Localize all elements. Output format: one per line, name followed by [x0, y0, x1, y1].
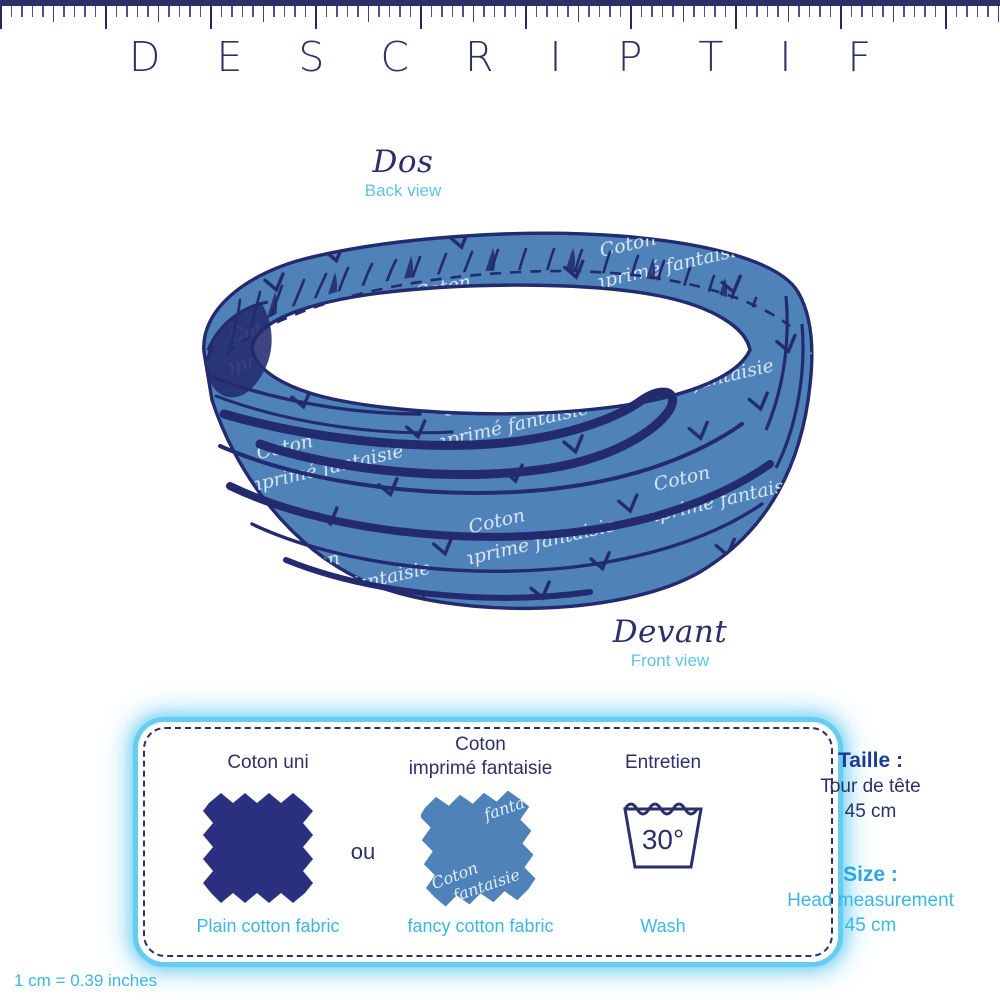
- ruler-tick: [893, 6, 895, 22]
- ruler-tick: [935, 6, 937, 17]
- ruler-tick: [620, 6, 622, 17]
- panel-column-care: Entretien 30° Wash: [588, 729, 738, 955]
- info-panel: Coton uni Plain cotton fabric ou Coton i…: [138, 722, 838, 962]
- ruler-tick: [389, 6, 391, 17]
- plain-fabric-title-fr: Coton uni: [163, 751, 373, 775]
- ruler-tick: [588, 6, 590, 17]
- label-back-view: Dos Back view: [303, 145, 503, 203]
- ruler-tick: [546, 6, 548, 17]
- ruler-tick: [242, 6, 244, 17]
- ruler-tick: [95, 6, 97, 17]
- ruler-tick: [819, 6, 821, 17]
- size-title-fr: Taille :: [738, 747, 1000, 774]
- ruler-tick: [63, 6, 65, 17]
- ruler-tick: [998, 6, 1000, 22]
- wash-temperature: 30°: [642, 824, 684, 855]
- panel-column-size: Taille : Tour de tête 45 cm Size : Head …: [738, 729, 1000, 955]
- ruler-tick: [987, 6, 989, 17]
- ruler-tick: [410, 6, 412, 17]
- ruler-tick: [651, 6, 653, 17]
- ruler-tick: [326, 6, 328, 17]
- ruler-tick: [777, 6, 779, 17]
- ruler-tick: [662, 6, 664, 17]
- ruler-tick: [861, 6, 863, 17]
- ruler-tick: [284, 6, 286, 17]
- ruler-tick: [483, 6, 485, 17]
- ruler-tick: [536, 6, 538, 17]
- ruler-tick: [735, 6, 737, 29]
- ruler-tick: [525, 6, 527, 29]
- care-title-fr: Entretien: [588, 751, 738, 775]
- ruler-tick: [746, 6, 748, 17]
- label-back-view-fr: Dos: [303, 145, 503, 179]
- ruler-tick: [914, 6, 916, 17]
- size-value-en: 45 cm: [738, 913, 1000, 938]
- printed-fabric-title-en: fancy cotton fabric: [373, 915, 588, 937]
- ruler-tick: [315, 6, 317, 29]
- size-block-fr: Taille : Tour de tête 45 cm: [738, 747, 1000, 824]
- care-title-en: Wash: [588, 915, 738, 937]
- ruler-tick: [977, 6, 979, 17]
- ruler-tick: [630, 6, 632, 29]
- printed-fabric-title-fr-line1: Coton: [373, 733, 588, 757]
- ruler-tick: [189, 6, 191, 17]
- ruler-tick: [231, 6, 233, 17]
- ruler-tick: [84, 6, 86, 17]
- ruler-tick: [263, 6, 265, 22]
- ruler-tick: [725, 6, 727, 17]
- ruler-tick: [966, 6, 968, 17]
- ruler-tick: [0, 6, 2, 29]
- ruler-tick: [903, 6, 905, 17]
- ruler-tick: [714, 6, 716, 17]
- ruler-tick: [809, 6, 811, 17]
- ruler-tick: [452, 6, 454, 17]
- ruler-tick: [420, 6, 422, 29]
- page-title: DESCRIPTIF: [0, 30, 1000, 84]
- fabric-swatch-printed-icon: fanta Coton fantaisie: [421, 791, 545, 913]
- ruler-tick: [336, 6, 338, 17]
- ruler-tick: [578, 6, 580, 22]
- ruler-tick: [924, 6, 926, 17]
- ruler-tick: [42, 6, 44, 17]
- ruler-tick: [431, 6, 433, 17]
- printed-fabric-title-fr-line2: imprimé fantaisie: [373, 757, 588, 781]
- ruler-tick: [473, 6, 475, 22]
- ruler-tick: [851, 6, 853, 17]
- ruler-tick: [872, 6, 874, 17]
- label-front-view-en: Front view: [545, 649, 795, 673]
- ruler-tick: [305, 6, 307, 17]
- fabric-swatch-plain-icon: [201, 791, 321, 909]
- ruler-tick: [767, 6, 769, 17]
- ruler-tick: [956, 6, 958, 17]
- headband-illustration: Coton imprimé fantaisie: [190, 200, 820, 620]
- ruler-tick: [515, 6, 517, 17]
- ruler-tick: [273, 6, 275, 17]
- ruler-tick: [399, 6, 401, 17]
- info-panel-border: Coton uni Plain cotton fabric ou Coton i…: [143, 727, 833, 957]
- ruler-tick: [567, 6, 569, 17]
- ruler-tick: [147, 6, 149, 17]
- ruler-tick: [74, 6, 76, 17]
- page-root: DESCRIPTIF Dos Back view Coton imprimé f…: [0, 0, 1000, 1000]
- ruler-tick: [347, 6, 349, 17]
- ruler-tick: [294, 6, 296, 17]
- ruler-tick: [599, 6, 601, 17]
- ruler-tick: [672, 6, 674, 17]
- ruler-tick: [126, 6, 128, 17]
- ruler-tick: [641, 6, 643, 17]
- ruler-tick: [210, 6, 212, 29]
- ruler-tick: [945, 6, 947, 29]
- ruler-tick: [105, 6, 107, 29]
- size-measure-en: Head measurement: [738, 888, 1000, 913]
- ruler-tick: [693, 6, 695, 17]
- ruler-tick: [158, 6, 160, 22]
- ruler-tick: [137, 6, 139, 17]
- ruler-tick: [378, 6, 380, 17]
- ruler-tick: [788, 6, 790, 22]
- ruler-scale-icon: [0, 0, 1000, 30]
- ruler-tick: [798, 6, 800, 17]
- ruler-tick: [441, 6, 443, 17]
- ruler-tick: [221, 6, 223, 17]
- ruler-tick: [830, 6, 832, 17]
- ruler-tick: [357, 6, 359, 17]
- ruler-tick: [116, 6, 118, 17]
- ruler-tick: [840, 6, 842, 29]
- ruler-tick: [11, 6, 13, 17]
- page-title-band: DESCRIPTIF: [0, 30, 1000, 86]
- ruler-tick: [368, 6, 370, 22]
- ruler-tick: [882, 6, 884, 17]
- label-front-view-fr: Devant: [545, 615, 795, 649]
- ruler-tick: [462, 6, 464, 17]
- ruler-tick: [53, 6, 55, 22]
- ruler-tick: [504, 6, 506, 17]
- ruler-tick: [557, 6, 559, 17]
- wash-tub-icon: 30°: [615, 797, 711, 877]
- panel-column-printed-fabric: Coton imprimé fantaisie fanta: [373, 729, 588, 955]
- ruler-tick: [200, 6, 202, 17]
- unit-conversion-note: 1 cm = 0.39 inches: [14, 970, 157, 992]
- ruler-tick: [179, 6, 181, 17]
- plain-fabric-title-en: Plain cotton fabric: [163, 915, 373, 937]
- ruler-tick: [494, 6, 496, 17]
- ruler-tick: [252, 6, 254, 17]
- size-block-en: Size : Head measurement 45 cm: [738, 861, 1000, 938]
- label-front-view: Devant Front view: [545, 615, 795, 673]
- size-value-fr: 45 cm: [738, 799, 1000, 824]
- ruler-tick: [32, 6, 34, 17]
- ruler-tick: [756, 6, 758, 17]
- ruler-tick: [21, 6, 23, 17]
- ruler-tick: [609, 6, 611, 17]
- ruler-tick: [168, 6, 170, 17]
- ruler-tick: [704, 6, 706, 17]
- size-measure-fr: Tour de tête: [738, 774, 1000, 799]
- ruler-tick: [683, 6, 685, 22]
- size-title-en: Size :: [738, 861, 1000, 888]
